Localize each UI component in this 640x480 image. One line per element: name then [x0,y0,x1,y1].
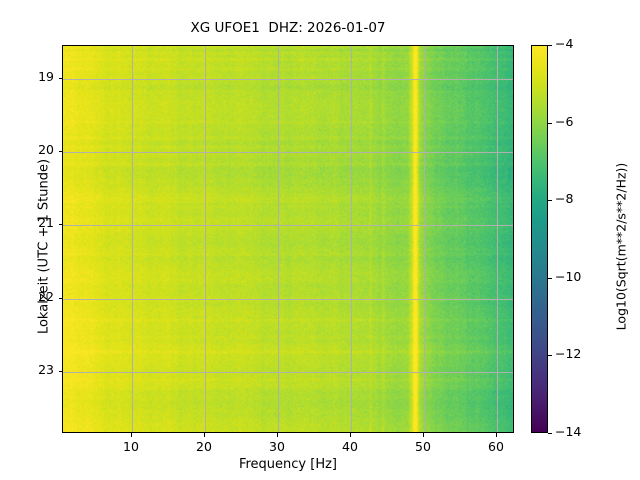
colorbar-tick-mark-5 [548,433,552,434]
colorbar-tick-mark-3 [548,278,552,279]
colorbar-tick-mark-4 [548,355,552,356]
x-tick-label-50: 50 [403,439,443,454]
colorbar-tick-label-1: −6 [555,114,573,129]
spectrogram-figure: XG UFOE1 DHZ: 2026-01-07 102030405060192… [0,0,640,480]
x-tick-mark-20 [204,433,205,437]
x-tick-label-10: 10 [111,439,151,454]
y-tick-mark-20 [59,151,63,152]
y-axis-label: Lokalzeit (UTC + 1 Stunde) [37,77,52,417]
x-axis-label: Frequency [Hz] [62,457,514,472]
x-tick-mark-40 [350,433,351,437]
y-tick-mark-21 [59,224,63,225]
colorbar-tick-label-0: −4 [555,36,573,51]
colorbar-tick-label-3: −10 [555,269,581,284]
x-tick-mark-50 [423,433,424,437]
x-tick-mark-10 [131,433,132,437]
x-tick-mark-30 [277,433,278,437]
x-tick-label-40: 40 [330,439,370,454]
colorbar-tick-label-4: −12 [555,346,581,361]
page-title: XG UFOE1 DHZ: 2026-01-07 [62,20,514,36]
spectrogram-image [63,46,513,432]
x-tick-label-60: 60 [476,439,516,454]
colorbar-tick-mark-1 [548,123,552,124]
colorbar-tick-label-5: −14 [555,424,581,439]
spectrogram-axes[interactable] [62,45,514,433]
x-tick-label-30: 30 [257,439,297,454]
y-tick-mark-19 [59,78,63,79]
colorbar-tick-mark-2 [548,200,552,201]
colorbar-label: Log10(Sqrt(m**2/s**2/Hz)) [614,77,629,417]
colorbar-tick-label-2: −8 [555,191,573,206]
colorbar[interactable] [531,45,548,433]
colorbar-tick-mark-0 [548,45,552,46]
y-tick-mark-22 [59,298,63,299]
y-tick-mark-23 [59,371,63,372]
x-tick-label-20: 20 [184,439,224,454]
x-tick-mark-60 [496,433,497,437]
